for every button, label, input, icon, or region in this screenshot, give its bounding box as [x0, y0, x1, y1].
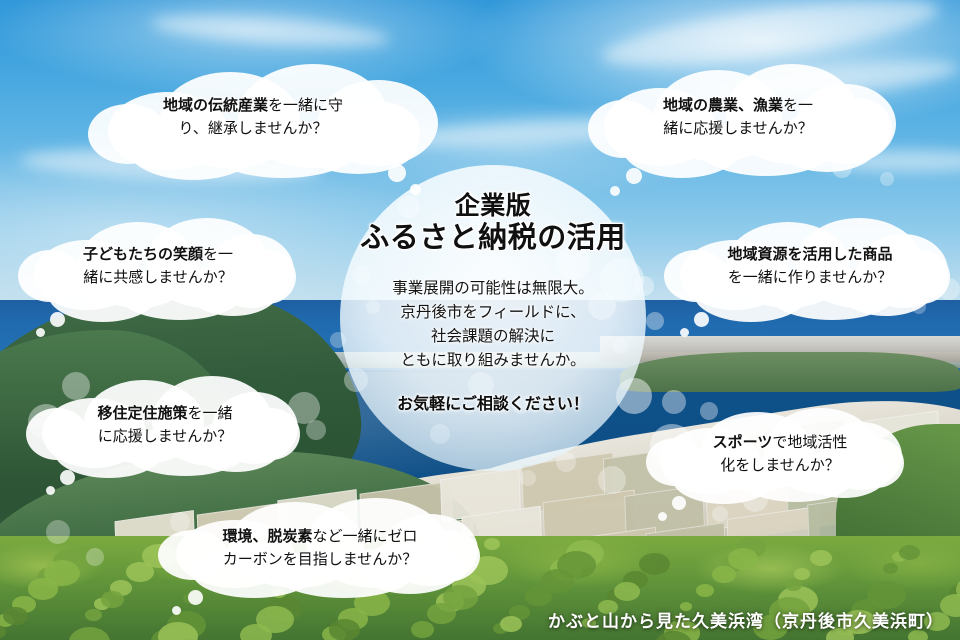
bubble-text-line2: 緒に応援しませんか？	[606, 117, 870, 140]
bubble-text-line2: 化をしませんか？	[664, 454, 896, 477]
bubble-text-rest: を一緒	[188, 404, 233, 422]
bubble-tail-dot	[694, 312, 709, 327]
bubble-text: 子どもたちの笑顔を一緒に共感しませんか？	[18, 243, 298, 289]
thought-bubble-migration-settlement: 移住定住施策を一緒に応援しませんか？	[26, 372, 304, 478]
bubble-tail-dot	[626, 168, 642, 184]
thought-bubble-traditional-industry: 地域の伝統産業を一緒に守り、継承しませんか？	[88, 58, 418, 176]
main-body-line1: 事業展開の可能性は無限大。	[392, 276, 594, 300]
bubble-keyword: 移住定住施策	[97, 404, 187, 422]
bubble-text-line1: 地域の農業、漁業を一	[606, 94, 870, 117]
bubble-text-line2: カーボンを目指しませんか？	[176, 548, 464, 571]
bubble-keyword: 子どもたちの笑顔	[83, 245, 203, 263]
bubble-text: 地域の伝統産業を一緒に守り、継承しませんか？	[88, 94, 418, 140]
bubble-tail-dot	[658, 512, 667, 521]
bubble-keyword: 地域の農業、漁業	[663, 96, 783, 114]
bubble-text: 地域資源を活用した商品を一緒に作りませんか？	[664, 243, 956, 289]
bubble-keyword: スポーツ	[713, 433, 773, 451]
main-title-line1: 企業版	[360, 191, 626, 220]
bubble-text-rest: を一	[203, 245, 233, 263]
bubble-tail-dot	[36, 328, 45, 337]
main-body-line4: ともに取り組みませんか。	[392, 348, 594, 372]
bubble-text-line1: 地域資源を活用した商品	[682, 243, 938, 266]
bubble-tail-dot	[60, 470, 75, 485]
bubble-text-rest: など一緒にゼロ	[313, 527, 418, 545]
photo-caption: かぶと山から見た久美浜湾（京丹後市久美浜町）	[548, 607, 944, 632]
bubble-text: 環境、脱炭素など一緒にゼロカーボンを目指しませんか？	[158, 525, 482, 571]
bubble-text-line1: 環境、脱炭素など一緒にゼロ	[176, 525, 464, 548]
bubble-text-line1: 子どもたちの笑顔を一	[36, 243, 280, 266]
bubble-text-line1: 地域の伝統産業を一緒に守	[106, 94, 400, 117]
thought-bubble-sports-revitalization: スポーツで地域活性化をしませんか？	[646, 404, 914, 504]
bubble-text-rest: で地域活性	[772, 433, 847, 451]
bubble-text-rest: を一	[783, 96, 813, 114]
thought-bubble-zero-carbon: 環境、脱炭素など一緒にゼロカーボンを目指しませんか？	[158, 496, 482, 600]
bubble-tail-dot	[672, 496, 686, 510]
main-title-line2: ふるさと納税の活用	[360, 221, 626, 255]
bubble-text-line2: り、継承しませんか？	[106, 117, 400, 140]
poster-canvas: 企業版 ふるさと納税の活用 事業展開の可能性は無限大。 京丹後市をフィールドに、…	[0, 0, 960, 640]
main-body-text: 事業展開の可能性は無限大。 京丹後市をフィールドに、 社会課題の解決に ともに取…	[392, 276, 594, 372]
thought-bubble-children-smiles: 子どもたちの笑顔を一緒に共感しませんか？	[18, 212, 298, 320]
bubble-text-rest: を一緒に守	[268, 96, 343, 114]
bubble-keyword: 地域の伝統産業	[163, 96, 268, 114]
bubble-tail-dot	[172, 606, 181, 615]
main-body-line3: 社会課題の解決に	[392, 324, 594, 348]
bubble-keyword: 環境、脱炭素	[222, 527, 312, 545]
bubble-tail-dot	[388, 164, 406, 182]
bubble-tail-dot	[680, 328, 689, 337]
bubble-text-line2: を一緒に作りませんか？	[682, 266, 938, 289]
bubble-text-line2: に応援しませんか？	[44, 425, 286, 448]
bubble-text-line1: スポーツで地域活性	[664, 431, 896, 454]
bubble-keyword: 地域資源を活用した商品	[727, 245, 892, 263]
contact-call-to-action: お気軽にご相談ください！	[397, 390, 589, 414]
bubble-tail-dot	[46, 486, 55, 495]
bubble-tail-dot	[188, 590, 203, 605]
main-title: 企業版 ふるさと納税の活用	[360, 191, 626, 255]
bubble-text: 移住定住施策を一緒に応援しませんか？	[26, 402, 304, 448]
bubble-tail-dot	[410, 184, 421, 195]
main-body-line2: 京丹後市をフィールドに、	[392, 300, 594, 324]
bubble-tail-dot	[50, 312, 65, 327]
main-message-circle: 企業版 ふるさと納税の活用 事業展開の可能性は無限大。 京丹後市をフィールドに、…	[340, 165, 646, 471]
bubble-text: 地域の農業、漁業を一緒に応援しませんか？	[588, 94, 888, 140]
bubble-text: スポーツで地域活性化をしませんか？	[646, 431, 914, 477]
thought-bubble-local-resources-products: 地域資源を活用した商品を一緒に作りませんか？	[664, 212, 956, 320]
bubble-tail-dot	[610, 186, 620, 196]
bubble-text-line2: 緒に共感しませんか？	[36, 266, 280, 289]
thought-bubble-agriculture-fishery: 地域の農業、漁業を一緒に応援しませんか？	[588, 58, 888, 176]
bubble-text-line1: 移住定住施策を一緒	[44, 402, 286, 425]
